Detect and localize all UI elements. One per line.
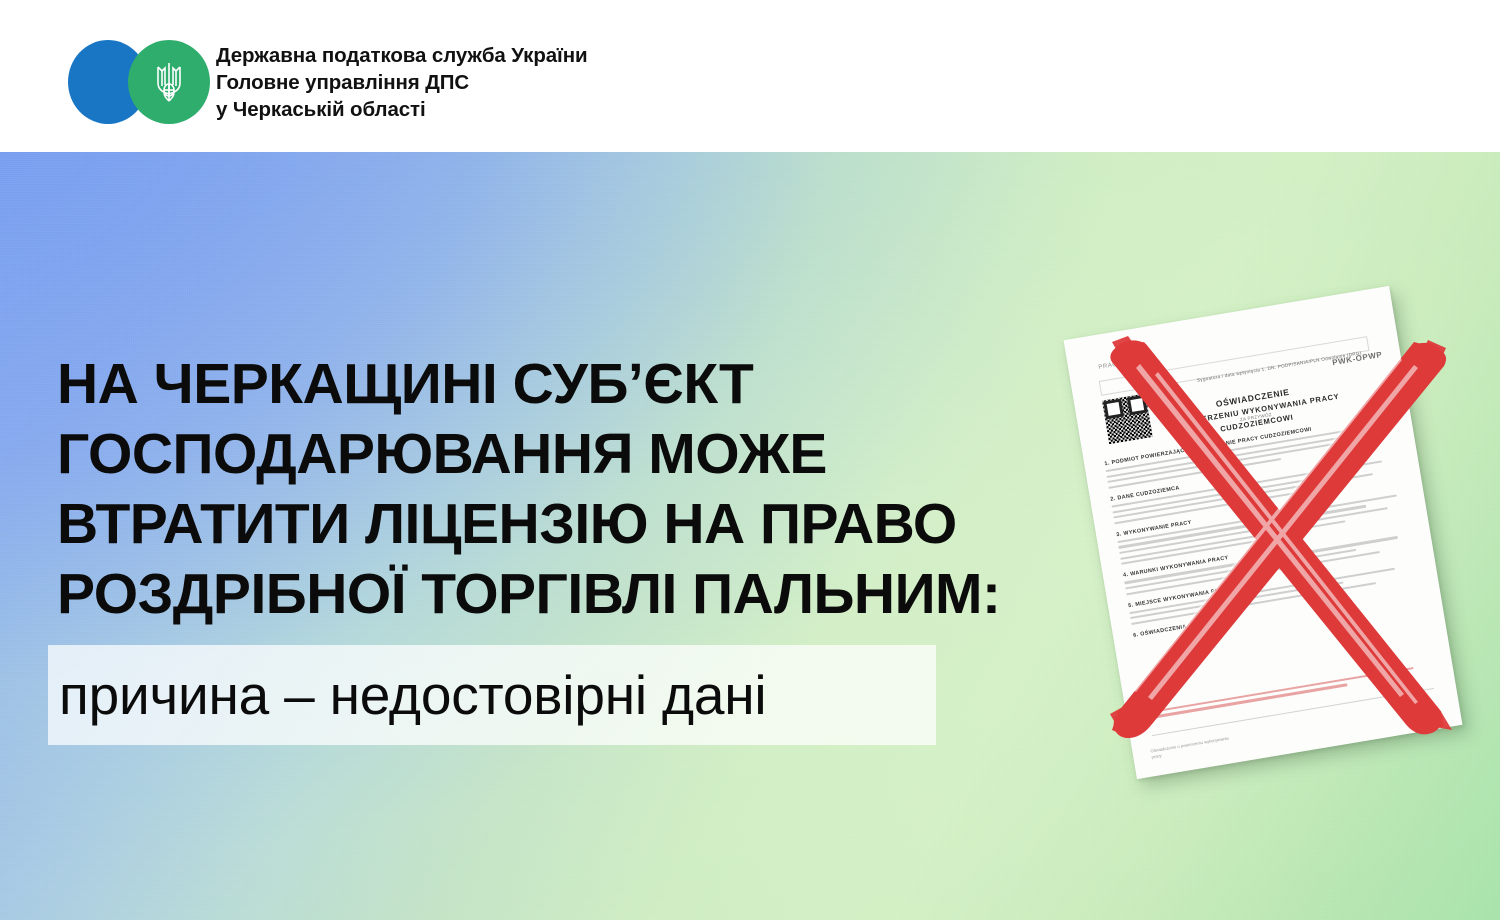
headline-line-3: ВТРАТИТИ ЛІЦЕНЗІЮ НА ПРАВО	[57, 489, 1087, 559]
document-page: PRACA.GOV.PL PWK-OPWP Sygnatura i data w…	[1064, 286, 1463, 779]
document-footer-left: Oświadczenie o powierzeniu wykonywania p…	[1150, 734, 1241, 761]
headline-line-2: ГОСПОДАРЮВАННЯ МОЖЕ	[57, 419, 1087, 489]
document-content: PRACA.GOV.PL PWK-OPWP Sygnatura i data w…	[1064, 286, 1463, 779]
crossed-out-document-graphic: PRACA.GOV.PL PWK-OPWP Sygnatura i data w…	[1098, 310, 1458, 780]
site-header: Державна податкова служба України Головн…	[0, 0, 1500, 152]
organization-logo	[62, 38, 210, 126]
document-top-word: PRACA.GOV.PL	[1098, 356, 1150, 370]
org-line-3: у Черкаській області	[216, 96, 588, 123]
logo-green-circle-icon	[128, 40, 210, 124]
document-red-text-lines	[1150, 664, 1432, 722]
subtitle-highlight-band: причина – недостовірні дані	[48, 645, 936, 745]
page-title: НА ЧЕРКАЩИНІ СУБ’ЄКТ ГОСПОДАРЮВАННЯ МОЖЕ…	[57, 349, 1087, 629]
document-rotation-wrapper: PRACA.GOV.PL PWK-OPWP Sygnatura i data w…	[1064, 286, 1463, 779]
headline-line-1: НА ЧЕРКАЩИНІ СУБ’ЄКТ	[57, 349, 1087, 419]
organization-name: Державна податкова служба України Головн…	[216, 42, 588, 123]
headline-line-4: РОЗДРІБНОЇ ТОРГІВЛІ ПАЛЬНИМ:	[57, 559, 1087, 629]
org-line-2: Головне управління ДПС	[216, 69, 588, 96]
subtitle-text: причина – недостовірні дані	[48, 664, 766, 726]
org-line-1: Державна податкова служба України	[216, 42, 588, 69]
ukraine-trident-icon	[153, 59, 185, 105]
document-footer-right: Strona 1	[1425, 709, 1443, 719]
